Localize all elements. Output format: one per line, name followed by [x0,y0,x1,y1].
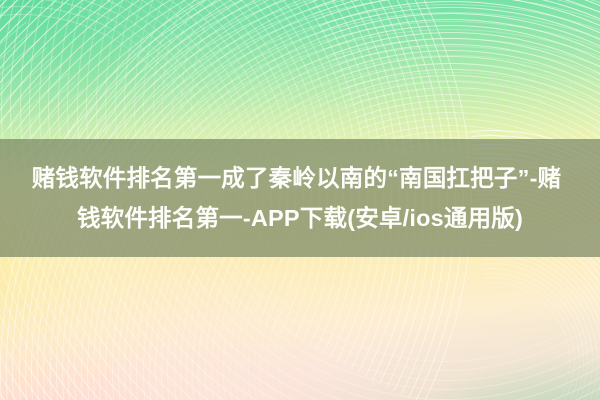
headline-line-2: 钱软件排名第一-APP下载(安卓/ios通用版) [0,198,600,238]
banner-image: 赌钱软件排名第一成了秦岭以南的“南国扛把子”-赌 钱软件排名第一-APP下载(安… [0,0,600,400]
headline-band: 赌钱软件排名第一成了秦岭以南的“南国扛把子”-赌 钱软件排名第一-APP下载(安… [0,139,600,257]
headline-line-1: 赌钱软件排名第一成了秦岭以南的“南国扛把子”-赌 [0,158,600,198]
